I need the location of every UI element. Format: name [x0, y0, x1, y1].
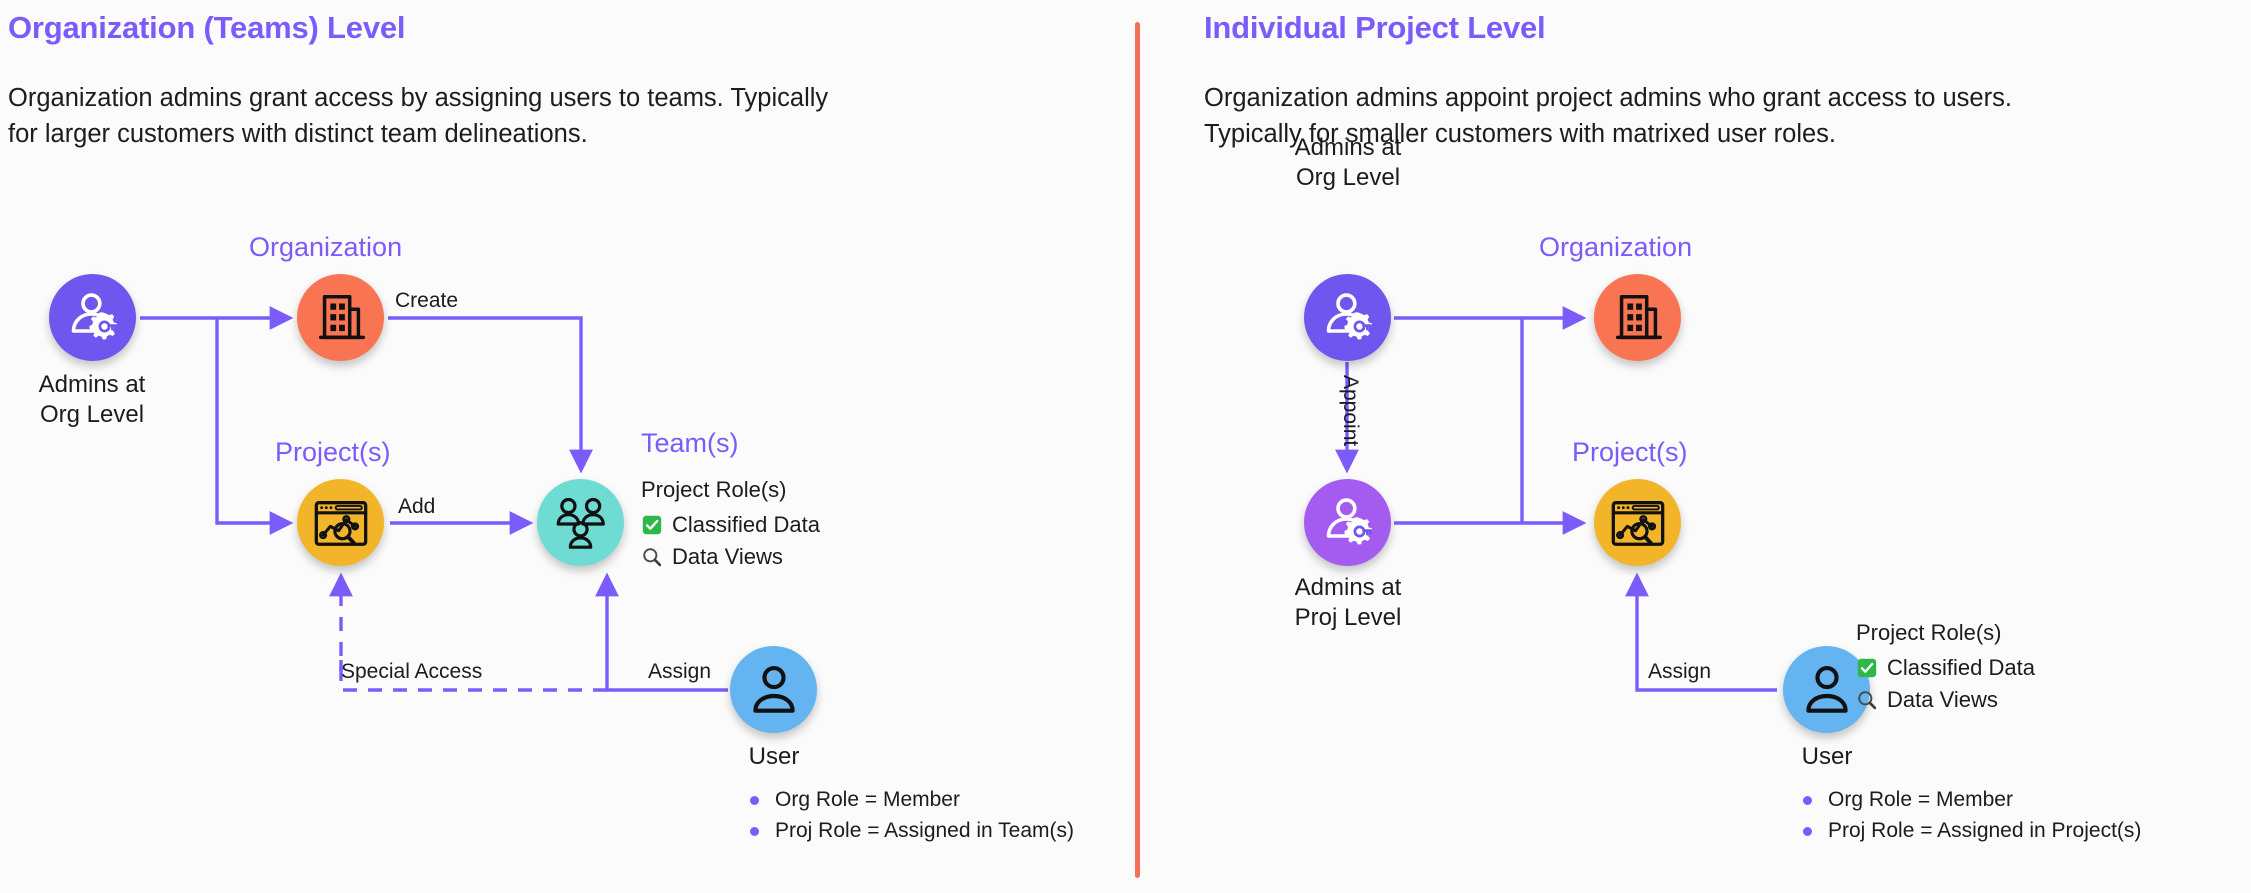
user-bullet-item: Proj Role = Assigned in Team(s)	[750, 819, 1074, 843]
edge-label-assign: Assign	[1648, 660, 1711, 684]
node-label-admin-org: Admins at Org Level	[1263, 133, 1433, 193]
project-roles-user: Project Role(s) Classified Data Data Vie…	[1856, 620, 2035, 719]
node-admin-org[interactable]	[1304, 274, 1391, 361]
entity-label-projects: Project(s)	[1572, 437, 1688, 468]
project-role-item: Data Views	[1856, 687, 2035, 713]
green-check-icon	[1856, 657, 1878, 679]
left-edges	[0, 0, 1135, 893]
person-icon	[1798, 661, 1856, 719]
project-role-label: Classified Data	[672, 512, 820, 538]
magnifier-icon	[641, 546, 663, 568]
project-role-label: Classified Data	[1887, 655, 2035, 681]
user-bullet-label: Org Role = Member	[775, 788, 960, 812]
person-icon	[745, 661, 803, 719]
user-bullet-label: Org Role = Member	[1828, 788, 2013, 812]
admin-user-key-gear-icon	[1317, 492, 1379, 554]
user-bullet-item: Proj Role = Assigned in Project(s)	[1803, 819, 2141, 843]
node-organization[interactable]	[1594, 274, 1681, 361]
edge-label-special-access: Special Access	[341, 660, 482, 684]
project-role-label: Data Views	[1887, 687, 1998, 713]
dashboard-chart-search-icon	[311, 493, 371, 553]
bullet-dot-icon	[1803, 796, 1812, 805]
node-projects[interactable]	[1594, 479, 1681, 566]
admin-user-key-gear-icon	[1317, 287, 1379, 349]
bullet-dot-icon	[750, 827, 759, 836]
project-roles-teams: Project Role(s) Classified Data Data Vie…	[641, 477, 820, 576]
node-label-user: User	[704, 742, 844, 772]
entity-label-teams: Team(s)	[641, 428, 739, 459]
entity-label-organization: Organization	[1539, 232, 1692, 263]
node-admin-org[interactable]	[49, 274, 136, 361]
project-role-label: Data Views	[672, 544, 783, 570]
green-check-icon	[641, 514, 663, 536]
user-bullet-item: Org Role = Member	[1803, 788, 2141, 812]
node-admin-proj[interactable]	[1304, 479, 1391, 566]
user-bullet-item: Org Role = Member	[750, 788, 1074, 812]
project-role-item: Classified Data	[1856, 655, 2035, 681]
building-icon	[1608, 288, 1668, 348]
edge-label-appoint: Appoint	[1338, 375, 1362, 446]
edge-label-add: Add	[398, 495, 435, 519]
project-role-item: Classified Data	[641, 512, 820, 538]
node-organization[interactable]	[297, 274, 384, 361]
user-bullet-label: Proj Role = Assigned in Project(s)	[1828, 819, 2141, 843]
entity-label-projects: Project(s)	[275, 437, 391, 468]
node-label-admin-proj: Admins at Proj Level	[1263, 573, 1433, 633]
panel-individual-project-level: Individual Project Level Organization ad…	[1138, 0, 2251, 893]
project-roles-title: Project Role(s)	[1856, 620, 2035, 646]
admin-user-key-gear-icon	[62, 287, 124, 349]
node-label-admin-org: Admins at Org Level	[0, 370, 192, 430]
edge-label-create: Create	[395, 289, 458, 313]
user-bullets: Org Role = Member Proj Role = Assigned i…	[1803, 788, 2141, 850]
node-teams[interactable]	[537, 479, 624, 566]
node-user[interactable]	[730, 646, 817, 733]
edge-admin-to-project	[217, 318, 288, 523]
edge-label-assign: Assign	[648, 660, 711, 684]
entity-label-organization: Organization	[249, 232, 402, 263]
project-role-item: Data Views	[641, 544, 820, 570]
bullet-dot-icon	[1803, 827, 1812, 836]
user-bullet-label: Proj Role = Assigned in Team(s)	[775, 819, 1074, 843]
bullet-dot-icon	[750, 796, 759, 805]
building-icon	[311, 288, 371, 348]
edge-org-to-team	[388, 318, 581, 468]
panel-organization-teams-level: Organization (Teams) Level Organization …	[0, 0, 1135, 893]
node-projects[interactable]	[297, 479, 384, 566]
user-bullets: Org Role = Member Proj Role = Assigned i…	[750, 788, 1074, 850]
three-people-icon	[551, 493, 611, 553]
dashboard-chart-search-icon	[1608, 493, 1668, 553]
node-label-user: User	[1757, 742, 1897, 772]
magnifier-icon	[1856, 689, 1878, 711]
project-roles-title: Project Role(s)	[641, 477, 820, 503]
